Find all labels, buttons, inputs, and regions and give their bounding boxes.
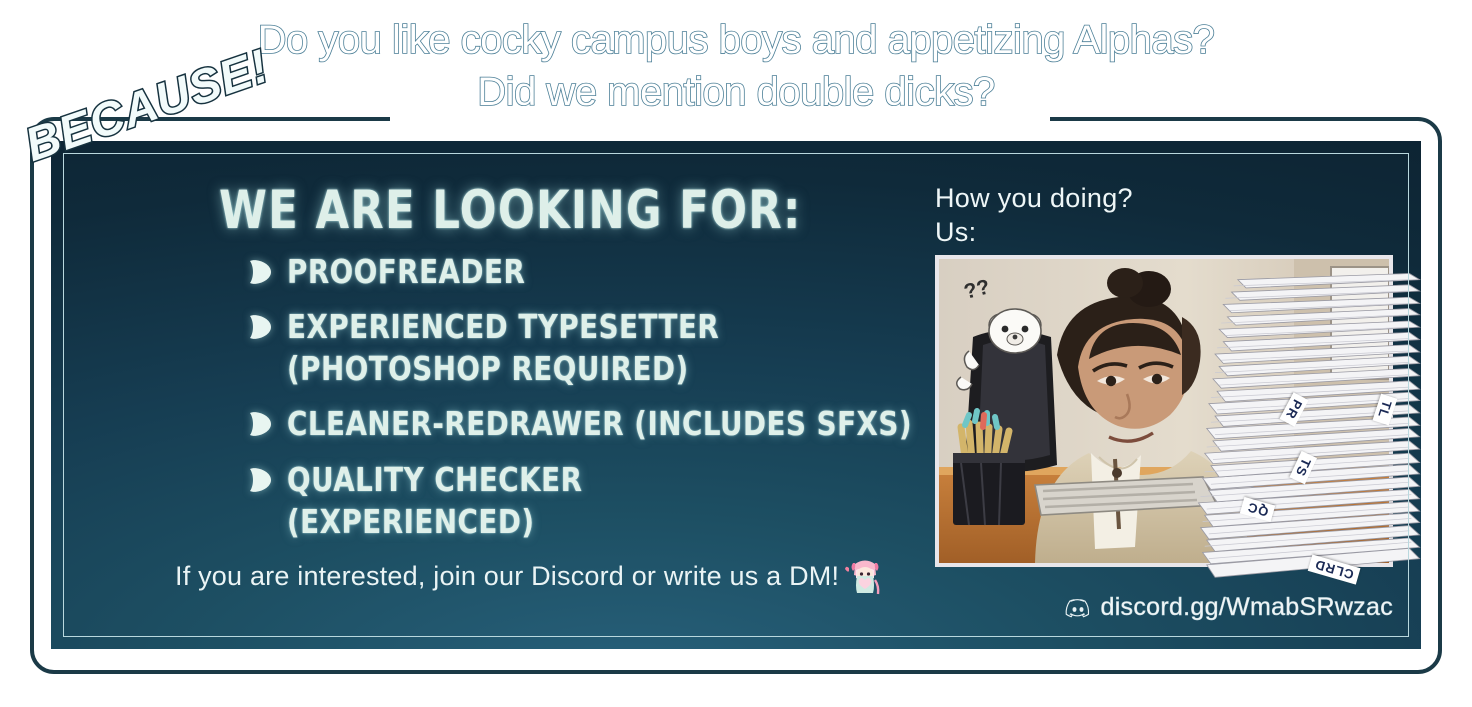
reaction-photo: ??	[935, 255, 1393, 567]
job-list: PROOFREADER EXPERIENCED TYPESETTER (PHOT…	[171, 251, 951, 542]
reaction-column: How you doing? Us:	[935, 181, 1405, 249]
poster-panel: WE ARE LOOKING FOR: PROOFREADER EXPERIEN…	[51, 141, 1421, 649]
heart-bullet-icon	[247, 409, 273, 439]
list-item: PROOFREADER	[247, 251, 951, 293]
heart-bullet-icon	[247, 257, 273, 287]
page-title: WE ARE LOOKING FOR:	[219, 183, 819, 239]
footnote-row: If you are interested, join our Discord …	[171, 556, 951, 596]
heart-bullet-icon	[247, 312, 273, 342]
recruitment-column: WE ARE LOOKING FOR: PROOFREADER EXPERIEN…	[171, 183, 951, 596]
heart-bullet-icon	[247, 465, 273, 495]
discord-invite-link[interactable]: discord.gg/WmabSRwzac	[1100, 593, 1393, 622]
discord-icon	[1065, 598, 1091, 618]
discord-invite-row[interactable]: discord.gg/WmabSRwzac	[935, 593, 1393, 622]
chibi-girl-sticker	[845, 556, 885, 596]
reaction-answer: Us:	[935, 215, 1405, 249]
job-label: CLEANER-REDRAWER (INCLUDES SFXS)	[287, 403, 912, 445]
job-label: PROOFREADER	[287, 251, 525, 293]
list-item: QUALITY CHECKER (EXPERIENCED)	[247, 459, 951, 542]
footnote-text: If you are interested, join our Discord …	[175, 561, 839, 592]
job-label: QUALITY CHECKER (EXPERIENCED)	[287, 459, 582, 542]
reaction-question: How you doing?	[935, 181, 1405, 215]
list-item: EXPERIENCED TYPESETTER (PHOTOSHOP REQUIR…	[247, 306, 951, 389]
job-label: EXPERIENCED TYPESETTER (PHOTOSHOP REQUIR…	[287, 306, 719, 389]
list-item: CLEANER-REDRAWER (INCLUDES SFXS)	[247, 403, 951, 445]
